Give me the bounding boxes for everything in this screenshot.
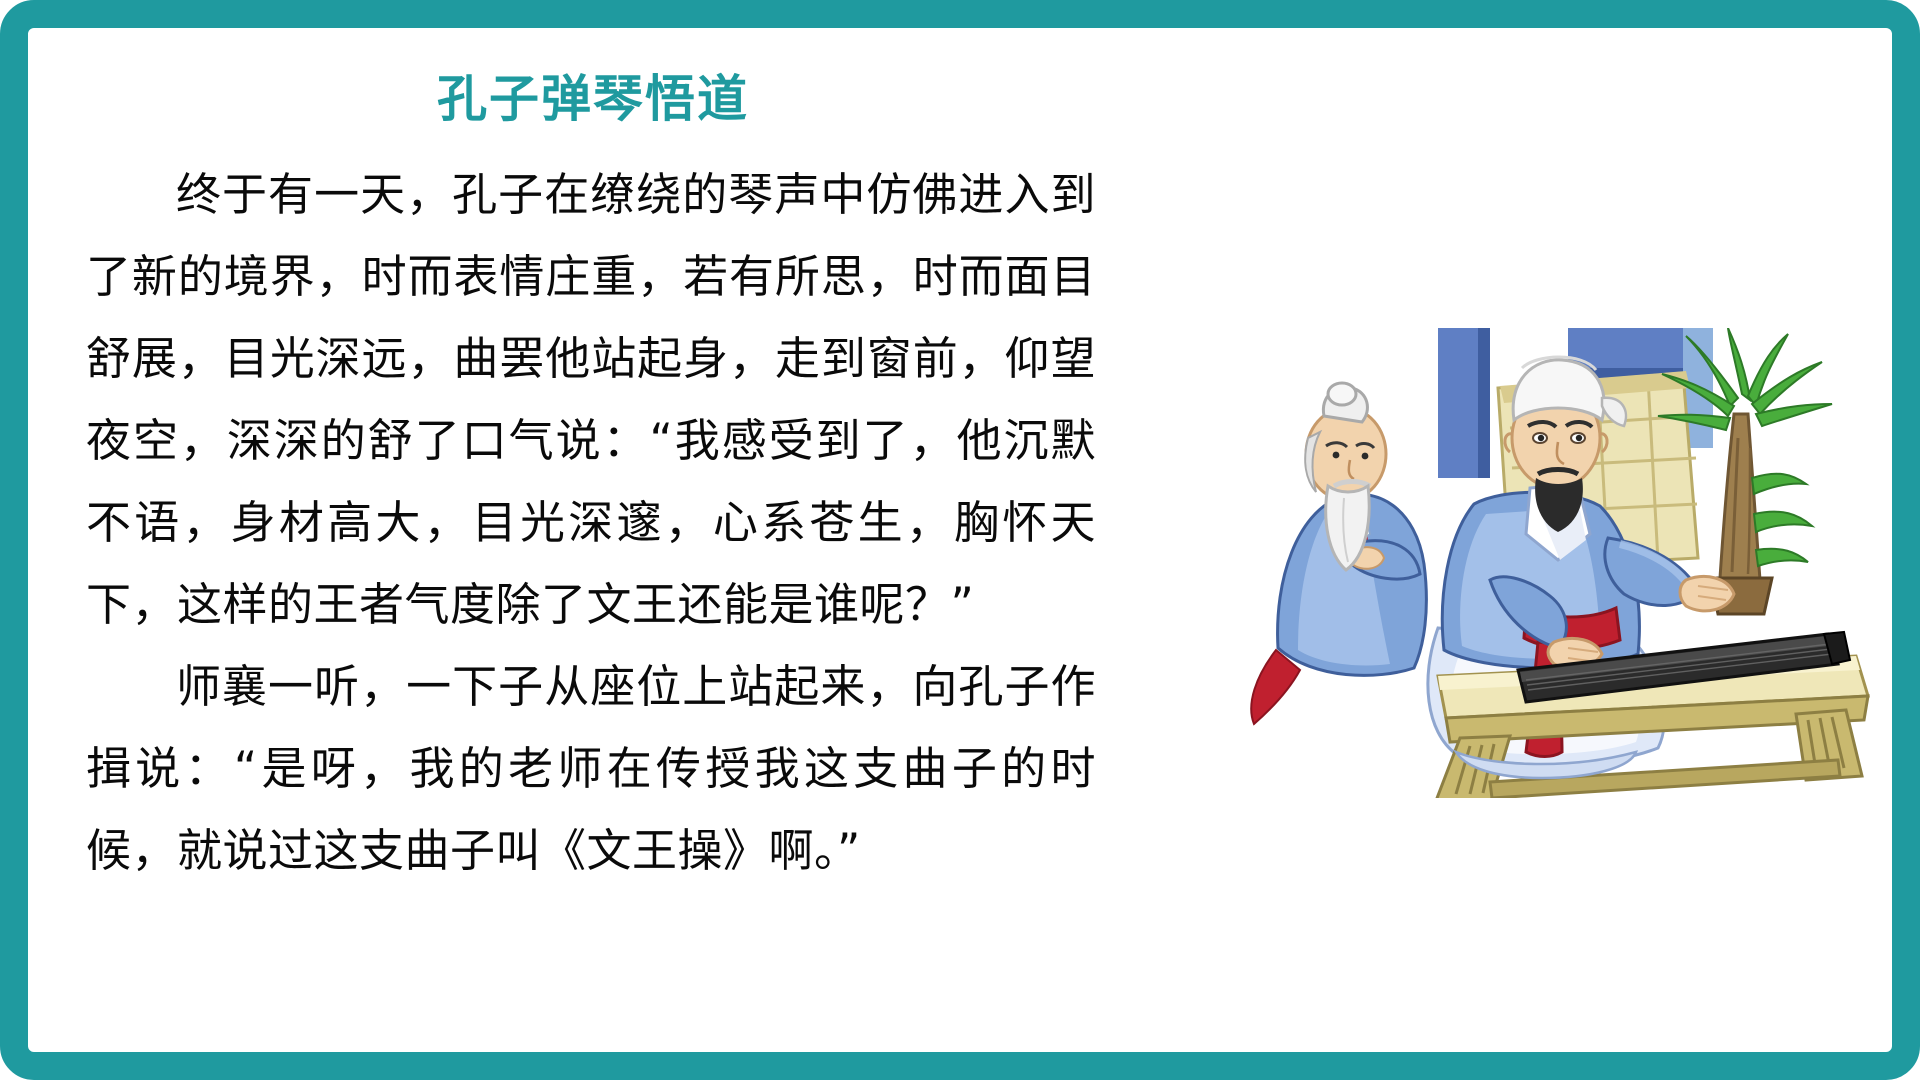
slide-page: 孔子弹琴悟道 终于有一天，孔子在缭绕的琴声中仿佛进入到了新的境界，时而表情庄重，… (28, 28, 1892, 1052)
paragraph-1: 终于有一天，孔子在缭绕的琴声中仿佛进入到了新的境界，时而表情庄重，若有所思，时而… (86, 154, 1096, 646)
paragraph-2: 师襄一听，一下子从座位上站起来，向孔子作揖说：“是呀，我的老师在传授我这支曲子的… (86, 646, 1096, 892)
body-text-block: 终于有一天，孔子在缭绕的琴声中仿佛进入到了新的境界，时而表情庄重，若有所思，时而… (86, 154, 1096, 892)
page-title: 孔子弹琴悟道 (28, 72, 1158, 127)
confucius-playing-guqin-illustration (1138, 328, 1892, 798)
slide-root: 孔子弹琴悟道 终于有一天，孔子在缭绕的琴声中仿佛进入到了新的境界，时而表情庄重，… (0, 0, 1920, 1080)
